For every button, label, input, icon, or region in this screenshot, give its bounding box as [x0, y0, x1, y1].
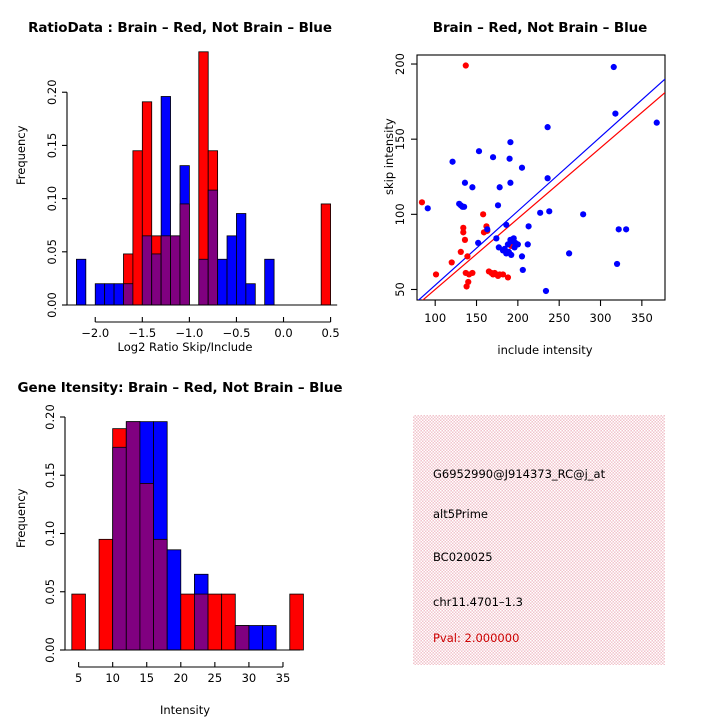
scatter-point	[460, 229, 466, 235]
scatter-point	[525, 241, 531, 247]
scatter-point	[519, 165, 525, 171]
hist-bar	[105, 284, 114, 305]
scatter-point	[475, 240, 481, 246]
x-tick-label: 20	[173, 671, 188, 685]
y-tick-label: 0.20	[43, 404, 57, 430]
scatter-point	[449, 159, 455, 165]
scatter-point	[537, 210, 543, 216]
scatter-point	[508, 252, 514, 258]
scatter-point	[612, 111, 618, 117]
hist-bar	[246, 284, 255, 305]
gene-hist-plot: 0.000.050.100.150.205101520253035	[0, 360, 360, 720]
x-tick-label: 10	[105, 671, 120, 685]
hist-bar-overlap	[161, 236, 170, 305]
info-accession: BC020025	[433, 550, 493, 564]
hist-bar-overlap	[180, 204, 189, 305]
hist-bar	[72, 594, 86, 650]
panel-ratio-histogram: RatioData : Brain – Red, Not Brain – Blu…	[0, 0, 360, 360]
scatter-point	[433, 271, 439, 277]
hist-bar-overlap	[171, 236, 180, 305]
info-locus: chr11.4701–1.3	[433, 595, 523, 609]
x-tick-label: 300	[590, 311, 612, 325]
x-tick-label: 100	[424, 311, 446, 325]
x-tick-label: 200	[507, 311, 529, 325]
scatter-point	[507, 180, 513, 186]
gene-hist-bars	[72, 422, 304, 650]
scatter-point	[546, 208, 552, 214]
x-tick-label: 5	[75, 671, 82, 685]
scatter-point	[461, 204, 467, 210]
y-tick-label: 0.15	[43, 462, 57, 488]
panel-gene-histogram: Gene Itensity: Brain – Red, Not Brain – …	[0, 360, 360, 720]
y-tick-label: 0.05	[43, 579, 57, 605]
x-tick-label: 30	[242, 671, 257, 685]
panel-info: G6952990@J914373_RC@j_at alt5Prime BC020…	[360, 360, 720, 720]
hist-bar-overlap	[123, 284, 132, 305]
hist-bar	[208, 594, 222, 650]
scatter-point	[462, 237, 468, 243]
scatter-point	[566, 250, 572, 256]
scatter-point	[490, 154, 496, 160]
scatter-point	[507, 139, 513, 145]
y-tick-label: 0.20	[45, 79, 59, 105]
hist-bar-overlap	[152, 254, 161, 305]
hist-bar	[227, 236, 236, 305]
scatter-point	[469, 184, 475, 190]
scatter-point	[520, 267, 526, 273]
scatter-point	[419, 199, 425, 205]
scatter-content	[417, 62, 665, 301]
x-tick-label: −1.5	[128, 326, 156, 340]
scatter-point	[484, 226, 490, 232]
scatter-point	[458, 249, 464, 255]
hist-bar	[167, 550, 181, 650]
scatter-point	[469, 270, 475, 276]
x-tick-label: 35	[276, 671, 291, 685]
hist-bar-overlap	[194, 594, 208, 650]
scatter-point	[503, 222, 509, 228]
ratio-hist-axes: 0.000.050.100.150.20−2.0−1.5−1.0−0.50.00…	[45, 79, 340, 340]
hist-bar	[114, 284, 123, 305]
x-tick-label: 250	[548, 311, 570, 325]
hist-bar	[181, 594, 195, 650]
x-tick-label: −2.0	[81, 326, 109, 340]
hist-bar	[321, 204, 330, 305]
hist-bar	[249, 626, 263, 650]
y-tick-label: 0.10	[43, 521, 57, 547]
scatter-point	[480, 211, 486, 217]
y-tick-label: 50	[393, 282, 407, 297]
hist-bar	[222, 594, 236, 650]
scatter-point	[425, 205, 431, 211]
scatter-point	[519, 253, 525, 259]
hist-bar-overlap	[142, 236, 151, 305]
hist-bar	[76, 259, 85, 305]
hist-bar	[236, 214, 245, 305]
scatter-series	[425, 64, 660, 294]
info-box-background	[413, 415, 665, 665]
scatter-point	[493, 235, 499, 241]
info-probe-id: G6952990@J914373_RC@j_at	[433, 467, 605, 481]
scatter-point	[506, 156, 512, 162]
scatter-point	[543, 288, 549, 294]
scatter-point	[526, 223, 532, 229]
scatter-point	[476, 148, 482, 154]
hist-bar	[263, 626, 277, 650]
scatter-point	[623, 226, 629, 232]
scatter-point	[449, 259, 455, 265]
scatter-point	[463, 62, 469, 68]
scatter-point	[464, 253, 470, 259]
hist-bar	[99, 539, 113, 650]
x-tick-label: 350	[631, 311, 653, 325]
hist-bar	[133, 151, 142, 305]
scatter-point	[614, 261, 620, 267]
scatter-point	[465, 279, 471, 285]
hist-bar-overlap	[140, 483, 154, 650]
scatter-point	[497, 184, 503, 190]
x-tick-label: 25	[208, 671, 223, 685]
scatter-point	[505, 241, 511, 247]
scatter-point	[654, 120, 660, 126]
hist-bar	[95, 284, 104, 305]
scatter-point	[545, 124, 551, 130]
ratio-hist-plot: 0.000.050.100.150.20−2.0−1.5−1.0−0.50.00…	[0, 0, 360, 360]
y-tick-label: 200	[393, 53, 407, 75]
ratio-hist-bars	[76, 52, 330, 305]
info-event-type: alt5Prime	[433, 507, 488, 521]
scatter-point	[505, 274, 511, 280]
y-tick-label: 0.10	[45, 186, 59, 212]
scatter-axes: 10015020025030035050100150200	[393, 53, 653, 325]
scatter-point	[545, 175, 551, 181]
hist-bar-overlap	[208, 190, 217, 305]
y-tick-label: 0.05	[45, 239, 59, 265]
y-tick-label: 150	[393, 128, 407, 150]
scatter-series	[419, 62, 514, 289]
hist-bar	[218, 259, 227, 305]
hist-bar	[290, 594, 304, 650]
x-tick-label: −0.5	[222, 326, 250, 340]
x-tick-label: 0.5	[321, 326, 339, 340]
info-pval: Pval: 2.000000	[433, 631, 519, 645]
x-tick-label: 15	[139, 671, 154, 685]
scatter-point	[495, 202, 501, 208]
y-tick-label: 0.15	[45, 133, 59, 159]
scatter-point	[616, 226, 622, 232]
y-tick-label: 0.00	[43, 637, 57, 663]
y-tick-label: 0.00	[45, 292, 59, 318]
hist-bar-overlap	[235, 626, 249, 650]
x-tick-label: −1.0	[175, 326, 203, 340]
scatter-point	[511, 244, 517, 250]
hist-bar-overlap	[154, 539, 168, 650]
figure-canvas: RatioData : Brain – Red, Not Brain – Blu…	[0, 0, 720, 720]
scatter-point	[462, 180, 468, 186]
fit-line	[417, 79, 665, 301]
panel-scatter: Brain – Red, Not Brain – Blue skip inten…	[360, 0, 720, 360]
hist-bar-overlap	[199, 259, 208, 305]
hist-bar	[265, 259, 274, 305]
scatter-point	[580, 211, 586, 217]
scatter-point	[496, 244, 502, 250]
y-tick-label: 100	[393, 203, 407, 225]
scatter-plot: 10015020025030035050100150200	[360, 0, 720, 360]
scatter-point	[611, 64, 617, 70]
hist-bar-overlap	[113, 447, 127, 650]
x-tick-label: 0.0	[274, 326, 292, 340]
fit-line	[421, 93, 665, 302]
hist-bar-overlap	[126, 422, 140, 650]
x-tick-label: 150	[466, 311, 488, 325]
